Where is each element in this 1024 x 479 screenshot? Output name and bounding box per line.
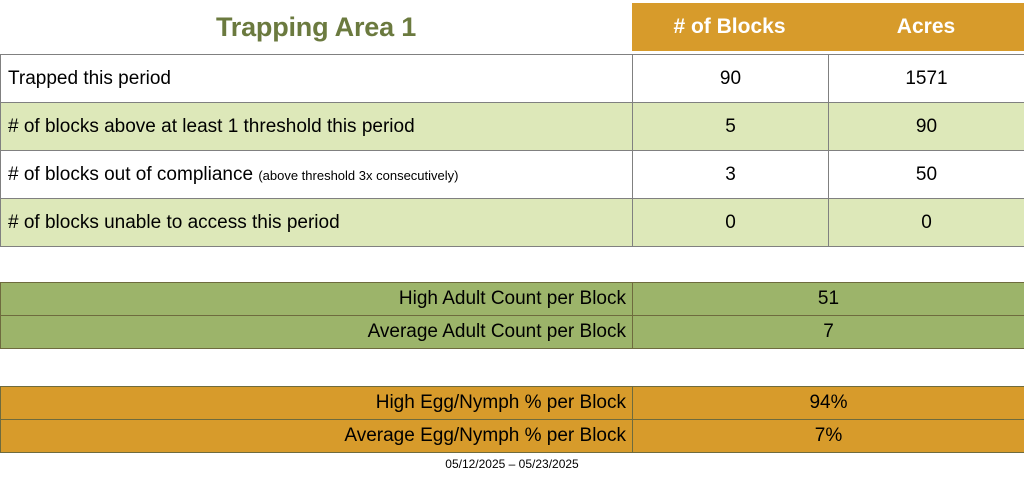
table-row: Average Adult Count per Block 7 — [1, 316, 1024, 349]
main-metrics-table: Trapped this period 90 1571 # of blocks … — [0, 54, 1024, 247]
table-row: Average Egg/Nymph % per Block 7% — [1, 420, 1024, 453]
spacer-above-egg-nymph — [0, 349, 1024, 386]
report-header: Trapping Area 1 # of Blocks Acres — [0, 0, 1024, 54]
table-row: # of blocks above at least 1 threshold t… — [1, 103, 1024, 151]
row-label-text: # of blocks above at least 1 threshold t… — [8, 116, 415, 137]
row-value-blocks: 90 — [633, 55, 829, 103]
row-value-acres: 90 — [829, 103, 1024, 151]
page-title: Trapping Area 1 — [216, 12, 416, 43]
row-label-text: # of blocks unable to access this period — [8, 212, 340, 233]
row-value-acres: 50 — [829, 151, 1024, 199]
band-label-high-egg-nymph: High Egg/Nymph % per Block — [1, 387, 633, 420]
row-value-blocks: 3 — [633, 151, 829, 199]
band-label-average-egg-nymph: Average Egg/Nymph % per Block — [1, 420, 633, 453]
row-label-trapped-this-period: Trapped this period — [1, 55, 633, 103]
egg-nymph-band: High Egg/Nymph % per Block 94% Average E… — [0, 386, 1024, 453]
adult-count-band: High Adult Count per Block 51 Average Ad… — [0, 282, 1024, 349]
table-row: Trapped this period 90 1571 — [1, 55, 1024, 103]
band-value-average-adult-count: 7 — [633, 316, 1024, 349]
table-row: # of blocks unable to access this period… — [1, 199, 1024, 247]
band-value-high-egg-nymph: 94% — [633, 387, 1024, 420]
row-value-blocks: 5 — [633, 103, 829, 151]
column-header-acres: Acres — [828, 3, 1024, 51]
band-label-high-adult-count: High Adult Count per Block — [1, 283, 633, 316]
row-label-text: Trapped this period — [8, 68, 171, 89]
date-range-footer: 05/12/2025 – 05/23/2025 — [0, 453, 1024, 471]
table-row: High Adult Count per Block 51 — [1, 283, 1024, 316]
page-title-cell: Trapping Area 1 — [0, 0, 632, 54]
table-row: # of blocks out of compliance (above thr… — [1, 151, 1024, 199]
spacer-above-adult-count — [0, 247, 1024, 282]
row-label-note: (above threshold 3x consecutively) — [258, 168, 458, 183]
band-value-high-adult-count: 51 — [633, 283, 1024, 316]
row-label-unable-to-access: # of blocks unable to access this period — [1, 199, 633, 247]
row-label-text: # of blocks out of compliance — [8, 164, 253, 185]
row-value-blocks: 0 — [633, 199, 829, 247]
column-header-blocks: # of Blocks — [632, 3, 828, 51]
row-value-acres: 0 — [829, 199, 1024, 247]
band-label-average-adult-count: Average Adult Count per Block — [1, 316, 633, 349]
row-value-acres: 1571 — [829, 55, 1024, 103]
table-row: High Egg/Nymph % per Block 94% — [1, 387, 1024, 420]
band-value-average-egg-nymph: 7% — [633, 420, 1024, 453]
row-label-out-of-compliance: # of blocks out of compliance (above thr… — [1, 151, 633, 199]
row-label-above-one-threshold: # of blocks above at least 1 threshold t… — [1, 103, 633, 151]
